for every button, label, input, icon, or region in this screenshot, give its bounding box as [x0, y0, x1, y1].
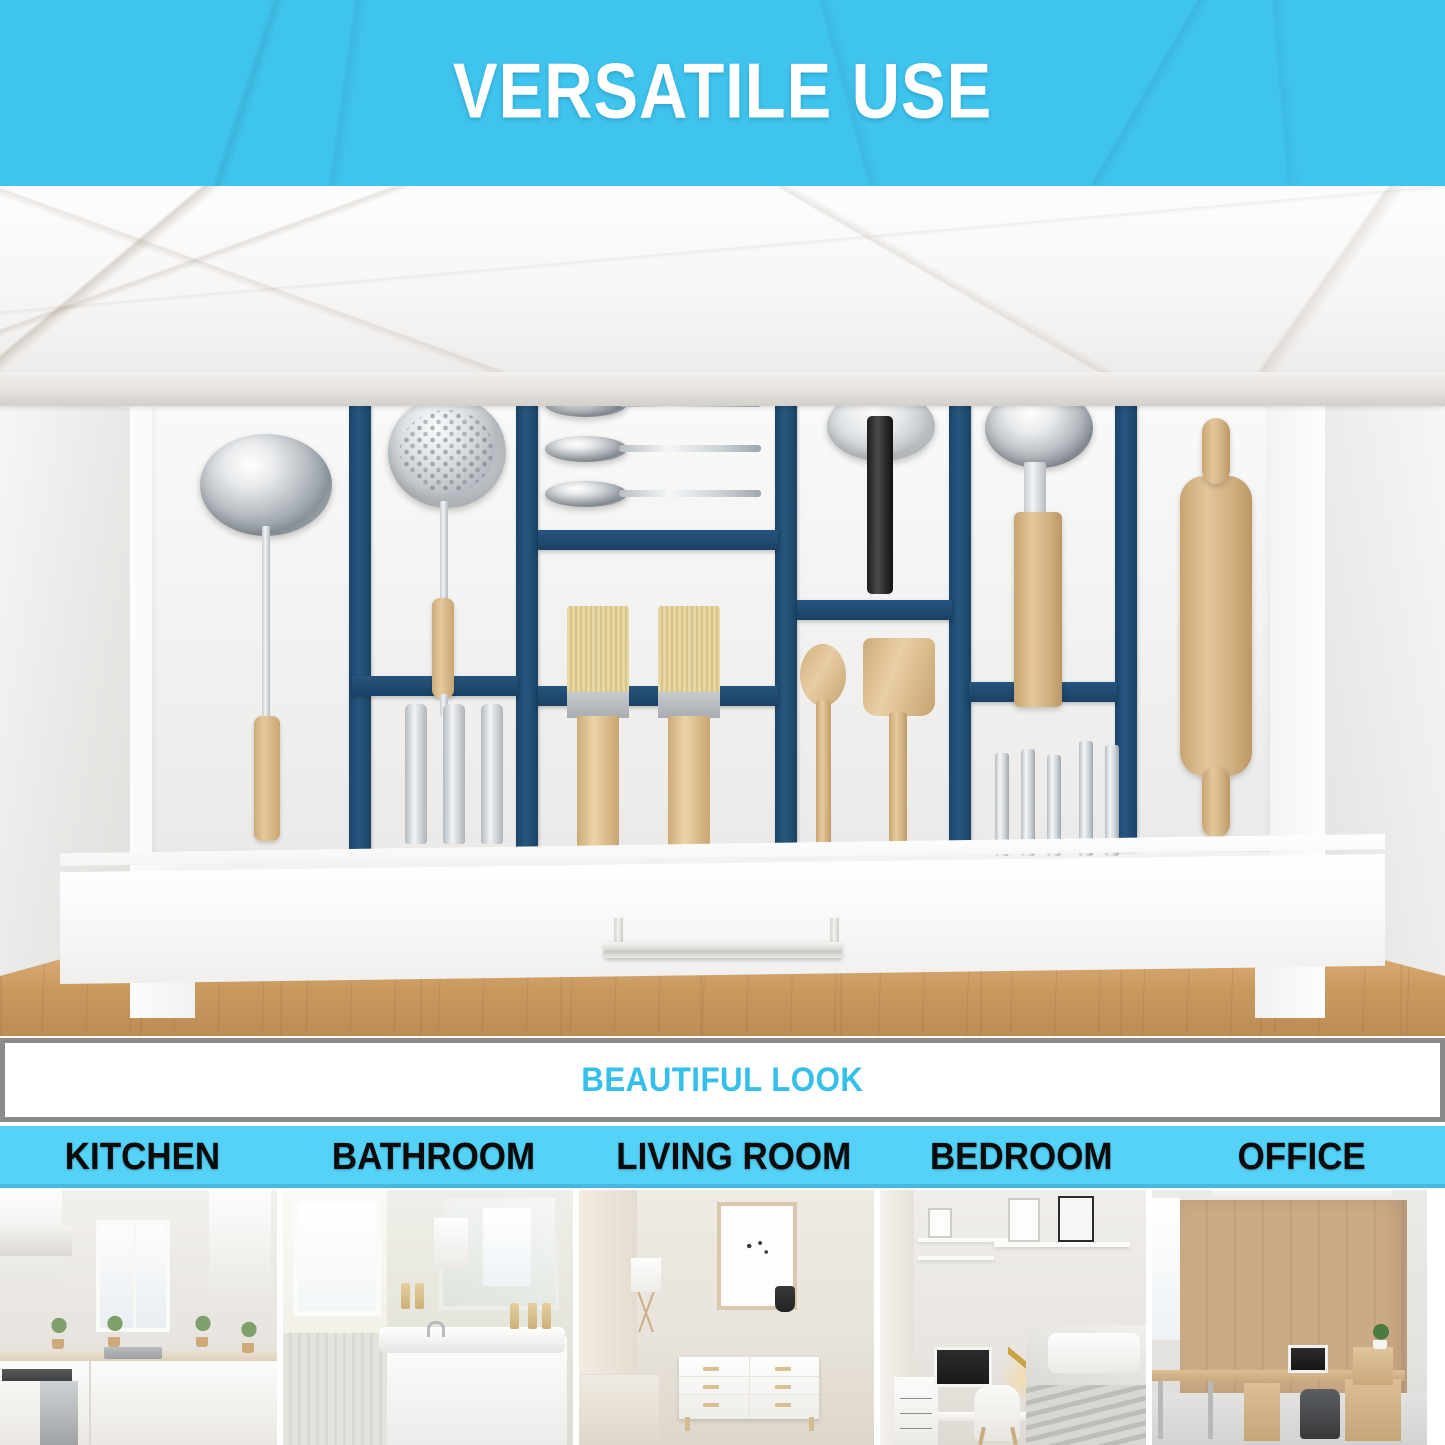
- room-label-living-room: LIVING ROOM: [582, 1136, 885, 1179]
- ladle-stem: [262, 526, 270, 731]
- beautiful-look-title: BEAUTIFUL LOOK: [569, 1061, 876, 1100]
- skimmer-wood-handle: [432, 598, 454, 698]
- rolling-pin-body: [1180, 476, 1252, 776]
- serving-spoon-2: [545, 436, 760, 462]
- rolling-pin-handle-bottom: [1202, 766, 1230, 838]
- butter-knife-1: [405, 704, 427, 844]
- thumbnail-bathroom[interactable]: [283, 1190, 573, 1445]
- pastry-brush-1: [567, 606, 629, 856]
- pastry-brush-2: [658, 606, 720, 856]
- skimmer-stem: [440, 501, 448, 606]
- pot-lid-handle: [867, 416, 893, 594]
- banner-title-text: VERSATILE USE: [453, 46, 992, 137]
- room-label-bathroom-text: BATHROOM: [332, 1136, 535, 1179]
- divider-horizontal-1: [538, 530, 778, 550]
- room-label-bathroom: BATHROOM: [285, 1136, 582, 1179]
- room-label-office-text: OFFICE: [1237, 1136, 1365, 1179]
- thumbnail-office[interactable]: [1152, 1190, 1427, 1445]
- butter-knife-3: [481, 704, 503, 844]
- banner-title: VERSATILE USE: [0, 46, 1445, 137]
- divider-vertical-3: [775, 382, 797, 852]
- room-thumbnail-row: [0, 1190, 1445, 1445]
- thumbnail-bedroom[interactable]: [880, 1190, 1146, 1445]
- serving-spoon-3: [545, 481, 760, 507]
- hero-drawer-scene: [0, 186, 1445, 1036]
- versatile-use-banner: VERSATILE USE: [0, 0, 1445, 186]
- room-label-kitchen-text: KITCHEN: [65, 1136, 220, 1179]
- beautiful-look-text: BEAUTIFUL LOOK: [581, 1061, 863, 1100]
- drawer-front-panel[interactable]: [60, 854, 1385, 984]
- butter-knife-2: [443, 704, 465, 844]
- thumbnail-living-room[interactable]: [579, 1190, 874, 1445]
- wooden-spatula: [863, 638, 935, 852]
- skimmer-perforations: [400, 410, 494, 492]
- divider-vertical-4: [949, 382, 971, 852]
- divider-horizontal-3: [797, 600, 952, 620]
- marble-countertop: [0, 186, 1445, 372]
- divider-vertical-2: [516, 382, 538, 852]
- room-label-bedroom-text: BEDROOM: [930, 1136, 1113, 1179]
- thumbnail-kitchen[interactable]: [0, 1190, 277, 1445]
- room-label-kitchen: KITCHEN: [0, 1136, 285, 1179]
- room-label-office: OFFICE: [1158, 1136, 1445, 1179]
- wall-frame-3: [1058, 1196, 1094, 1242]
- wooden-spoon: [800, 644, 846, 852]
- product-infographic: VERSATILE USE: [0, 0, 1445, 1445]
- divider-vertical-1: [349, 382, 371, 852]
- wooden-pestle: [1014, 512, 1062, 707]
- rolling-pin-handle-top: [1202, 418, 1230, 484]
- room-label-living-room-text: LIVING ROOM: [616, 1136, 851, 1179]
- marble-countertop-edge: [0, 372, 1445, 406]
- frying-pan-neck: [1024, 462, 1046, 518]
- wall-frame-2: [1008, 1198, 1040, 1242]
- drawer-handle[interactable]: [604, 942, 842, 958]
- room-label-strip: KITCHEN BATHROOM LIVING ROOM BEDROOM OFF…: [0, 1126, 1445, 1188]
- beautiful-look-band: BEAUTIFUL LOOK: [0, 1038, 1445, 1122]
- ladle-wood-handle: [254, 716, 280, 841]
- room-label-bedroom: BEDROOM: [885, 1136, 1158, 1179]
- ladle-bowl: [200, 434, 332, 536]
- wall-frame-1: [928, 1208, 952, 1238]
